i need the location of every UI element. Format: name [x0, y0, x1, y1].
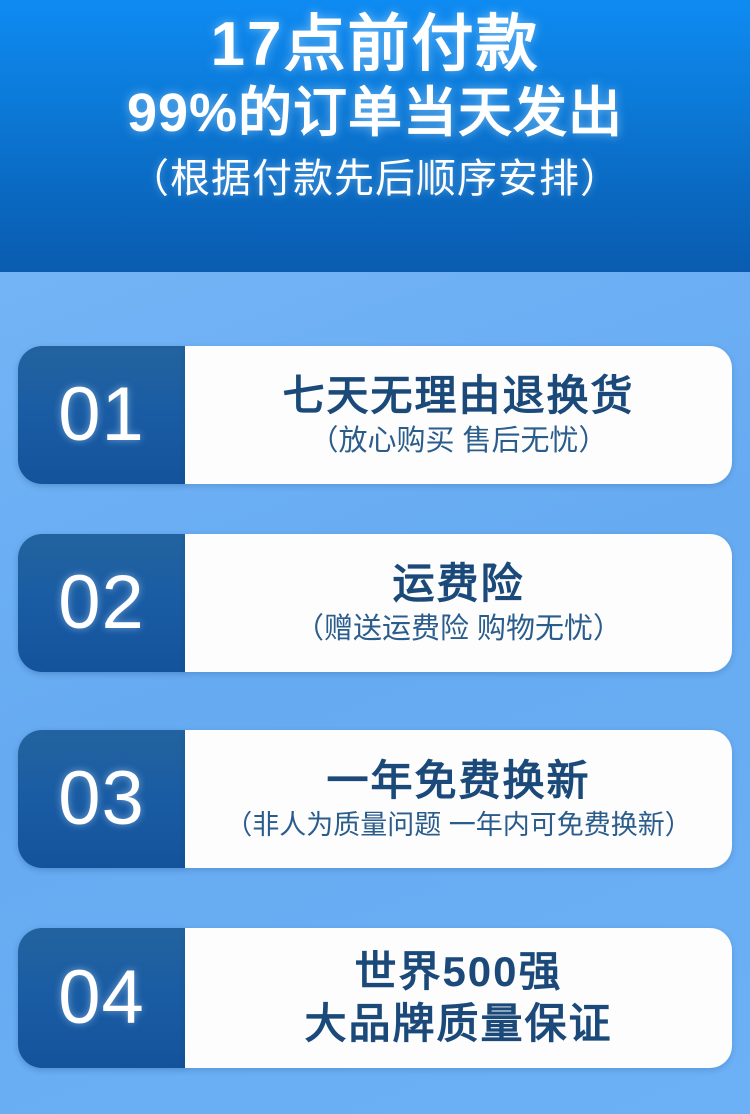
card-content-02: 运费险 （赠送运费险 购物无忧）	[185, 534, 732, 672]
service-card-02: 02 运费险 （赠送运费险 购物无忧）	[18, 534, 732, 672]
service-card-01: 01 七天无理由退换货 （放心购买 售后无忧）	[18, 346, 732, 484]
card-content-04: 世界500强 大品牌质量保证	[185, 928, 732, 1068]
card-number-block-03: 03	[18, 730, 185, 868]
card-content-01: 七天无理由退换货 （放心购买 售后无忧）	[185, 346, 732, 484]
card-number-block-04: 04	[18, 928, 185, 1068]
headline-sub: 99%的订单当天发出	[127, 83, 623, 143]
card-title-04: 世界500强	[354, 948, 562, 996]
card-number-block-02: 02	[18, 534, 185, 672]
card-content-03: 一年免费换新 （非人为质量问题 一年内可免费换新）	[185, 730, 732, 868]
card-subtitle-02: （赠送运费险 购物无忧）	[295, 612, 622, 647]
card-title-02: 运费险	[392, 560, 524, 608]
card-number-02: 02	[58, 565, 145, 641]
header-banner: 17点前付款 99%的订单当天发出 （根据付款先后顺序安排）	[0, 0, 750, 272]
card-number-01: 01	[58, 377, 145, 453]
card-number-block-01: 01	[18, 346, 185, 484]
card-title-03: 一年免费换新	[326, 757, 590, 805]
card-title-04-line2: 大品牌质量保证	[304, 1000, 612, 1048]
card-number-03: 03	[58, 761, 145, 837]
card-subtitle-03: （非人为质量问题 一年内可免费换新）	[225, 809, 692, 841]
promo-poster: 17点前付款 99%的订单当天发出 （根据付款先后顺序安排） 01 七天无理由退…	[0, 0, 750, 1114]
service-card-03: 03 一年免费换新 （非人为质量问题 一年内可免费换新）	[18, 730, 732, 868]
headline-main: 17点前付款	[211, 12, 540, 79]
service-card-04: 04 世界500强 大品牌质量保证	[18, 928, 732, 1068]
card-title-01: 七天无理由退换货	[282, 372, 634, 420]
card-subtitle-01: （放心购买 售后无忧）	[309, 424, 607, 459]
card-number-04: 04	[58, 960, 145, 1036]
headline-note: （根据付款先后顺序安排）	[129, 155, 621, 203]
